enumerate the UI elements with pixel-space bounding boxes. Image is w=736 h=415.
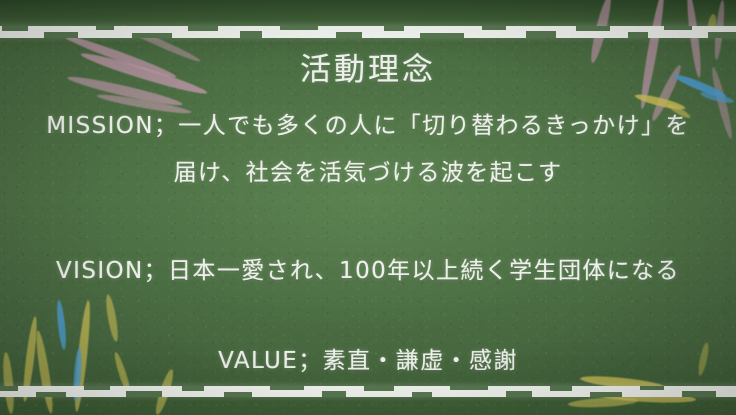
value-statement-line-1: VALUE；素直・謙虚・感謝 (0, 341, 736, 375)
yellow-scribble-bottom-left (104, 294, 120, 343)
vision-statement-line-1: VISION；日本一愛され、100年以上続く学生団体になる (0, 251, 736, 285)
chalkboard-top-edge (0, 0, 736, 22)
bottom-chalk-line-glow (0, 384, 736, 398)
page-title: 活動理念 (0, 44, 736, 89)
yellow-scribble-bottom-right (580, 374, 667, 393)
top-chalk-line (0, 26, 736, 38)
blue-scribble-top-right (700, 90, 735, 105)
yellow-scribble-bottom-right (568, 396, 638, 409)
chalkboard-slide: 活動理念 MISSION；一人でも多くの人に「切り替わるきっかけ」を 届け、社会… (0, 0, 736, 415)
mission-statement-line-2: 届け、社会を活気づける波を起こす (0, 153, 736, 187)
yellow-scribble-bottom-right (596, 389, 696, 404)
top-chalk-line-glow (0, 24, 736, 39)
mission-statement-line-1: MISSION；一人でも多くの人に「切り替わるきっかけ」を (0, 106, 736, 140)
bottom-chalk-line (0, 386, 736, 397)
